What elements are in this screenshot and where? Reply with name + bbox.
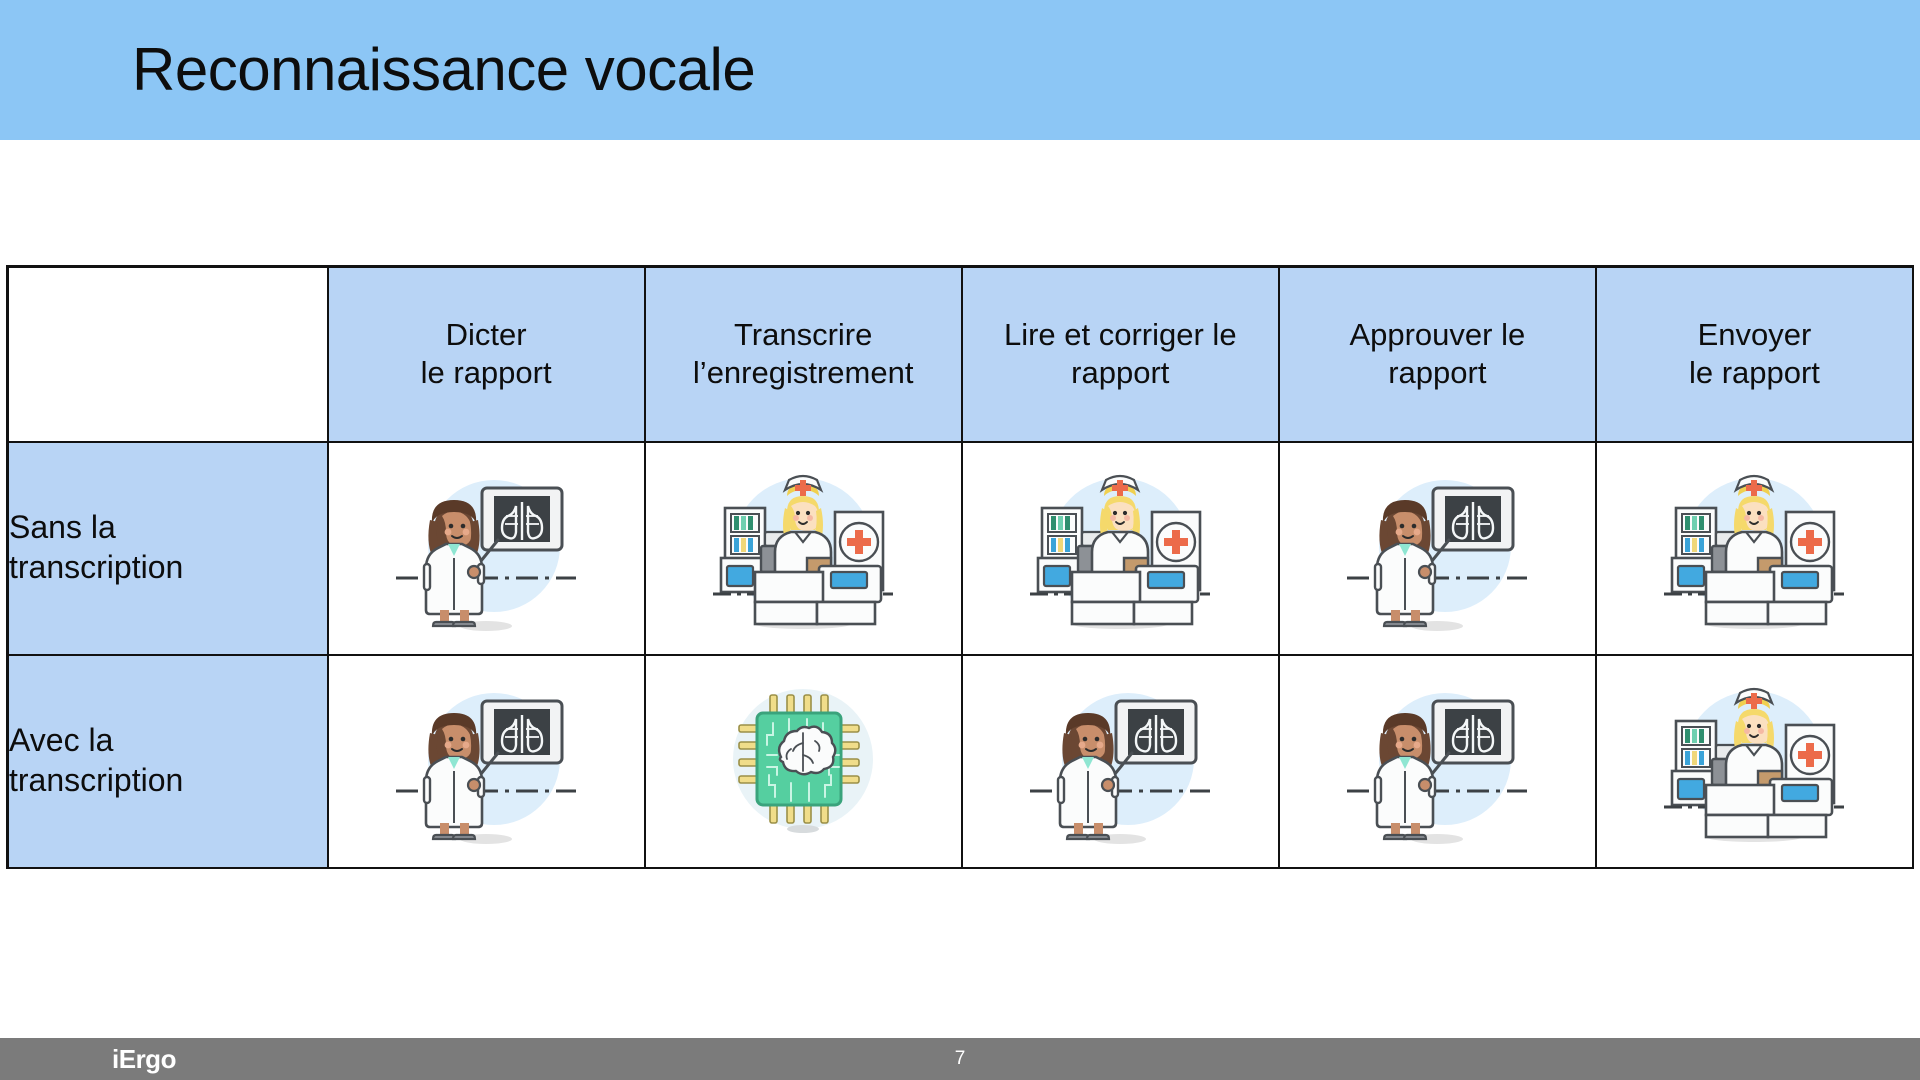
- row-label-line2: transcription: [9, 548, 327, 588]
- slide-footer: iErgo 7: [0, 1038, 1920, 1080]
- title-banner: Reconnaissance vocale: [0, 0, 1920, 140]
- column-header-line1: Lire et corriger le: [1004, 317, 1237, 352]
- doctor-xray-icon: [1280, 657, 1595, 866]
- row-label-line2: transcription: [9, 761, 327, 801]
- cell-sans-lire-corriger: [962, 442, 1279, 655]
- cell-sans-transcrire: [645, 442, 962, 655]
- cell-sans-dicter: [328, 442, 645, 655]
- column-header-line2: le rapport: [329, 354, 644, 393]
- corner-cell: [8, 267, 328, 442]
- page-number: 7: [0, 1048, 1920, 1070]
- column-header-line2: rapport: [963, 354, 1278, 393]
- row-label-line1: Sans la: [9, 509, 116, 545]
- column-header-envoyer: Envoyer le rapport: [1596, 267, 1913, 442]
- comparison-matrix: Dicter le rapport Transcrire l’enregistr…: [6, 265, 1914, 869]
- column-header-line1: Dicter: [446, 317, 527, 352]
- column-header-line2: rapport: [1280, 354, 1595, 393]
- cell-avec-dicter: [328, 655, 645, 868]
- nurse-reception-icon: [1597, 444, 1912, 653]
- column-header-lire-corriger: Lire et corriger le rapport: [962, 267, 1279, 442]
- doctor-xray-icon: [1280, 444, 1595, 653]
- row-label-line1: Avec la: [9, 722, 113, 758]
- column-header-line1: Envoyer: [1698, 317, 1812, 352]
- cell-sans-envoyer: [1596, 442, 1913, 655]
- slide-root: Reconnaissance vocale Dicter le rapport …: [0, 0, 1920, 1080]
- page-title: Reconnaissance vocale: [132, 40, 755, 100]
- cell-avec-lire-corriger: [962, 655, 1279, 868]
- column-header-line2: l’enregistrement: [646, 354, 961, 393]
- ai-brain-chip-icon: [646, 657, 961, 866]
- nurse-reception-icon: [646, 444, 961, 653]
- column-header-approuver: Approuver le rapport: [1279, 267, 1596, 442]
- cell-avec-transcrire: [645, 655, 962, 868]
- column-header-transcrire: Transcrire l’enregistrement: [645, 267, 962, 442]
- doctor-xray-icon: [329, 657, 644, 866]
- doctor-xray-icon: [963, 657, 1278, 866]
- column-header-line1: Transcrire: [734, 317, 872, 352]
- column-header-line2: le rapport: [1597, 354, 1912, 393]
- cell-avec-envoyer: [1596, 655, 1913, 868]
- column-header-line1: Approuver le: [1349, 317, 1525, 352]
- table-row: Sans la transcription: [8, 442, 1914, 655]
- row-label-sans-transcription: Sans la transcription: [8, 442, 328, 655]
- doctor-xray-icon: [329, 444, 644, 653]
- nurse-reception-icon: [1597, 657, 1912, 866]
- nurse-reception-icon: [963, 444, 1278, 653]
- row-label-avec-transcription: Avec la transcription: [8, 655, 328, 868]
- column-header-dicter: Dicter le rapport: [328, 267, 645, 442]
- cell-sans-approuver: [1279, 442, 1596, 655]
- table-row: Avec la transcription: [8, 655, 1914, 868]
- cell-avec-approuver: [1279, 655, 1596, 868]
- table-header-row: Dicter le rapport Transcrire l’enregistr…: [8, 267, 1914, 442]
